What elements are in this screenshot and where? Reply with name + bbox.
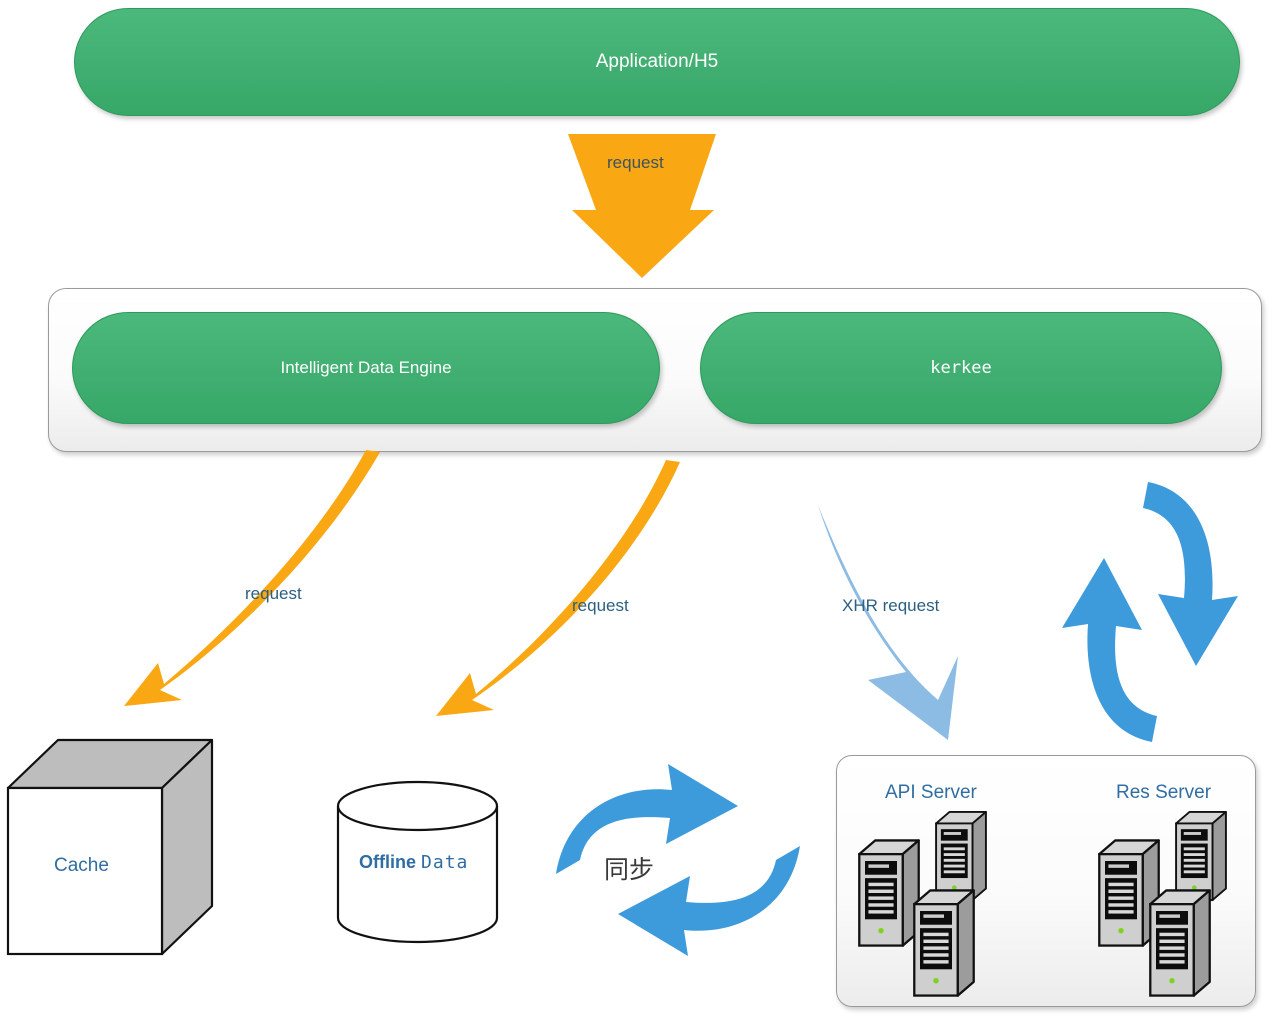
application-h5-block[interactable]: Application/H5 — [74, 8, 1240, 116]
request-to-cache-arrow — [124, 450, 380, 706]
cache-label: Cache — [54, 855, 109, 877]
diagram-canvas: Application/H5 Intelligent Data Engine k… — [0, 0, 1278, 1016]
offline-data-label: Offline Data — [359, 852, 468, 873]
request-to-cache-arrow-label: request — [245, 584, 302, 604]
kerkee-block[interactable]: kerkee — [700, 312, 1222, 424]
kerkee-label: kerkee — [930, 358, 991, 378]
xhr-request-arrow-label: XHR request — [842, 596, 939, 616]
intelligent-data-engine-block[interactable]: Intelligent Data Engine — [72, 312, 660, 424]
xhr-request-arrow — [818, 505, 958, 740]
application-h5-label: Application/H5 — [596, 51, 719, 73]
server-sync-cycle-arrows — [1062, 482, 1238, 742]
intelligent-data-engine-label: Intelligent Data Engine — [280, 358, 451, 378]
offline-data-label-mono: Data — [421, 852, 468, 873]
sync-label: 同步 — [604, 850, 654, 886]
api-server-group-label: API Server — [885, 782, 977, 804]
request-to-offline-arrow-label: request — [572, 596, 629, 616]
cache-cube-shape — [8, 740, 212, 954]
offline-sync-cycle-arrows — [556, 764, 800, 956]
request-to-offline-arrow — [436, 460, 680, 716]
request-down-arrow-label: request — [607, 153, 664, 173]
request-down-arrow — [568, 134, 716, 278]
res-server-group-label: Res Server — [1116, 782, 1211, 804]
offline-data-label-bold: Offline — [359, 852, 416, 872]
